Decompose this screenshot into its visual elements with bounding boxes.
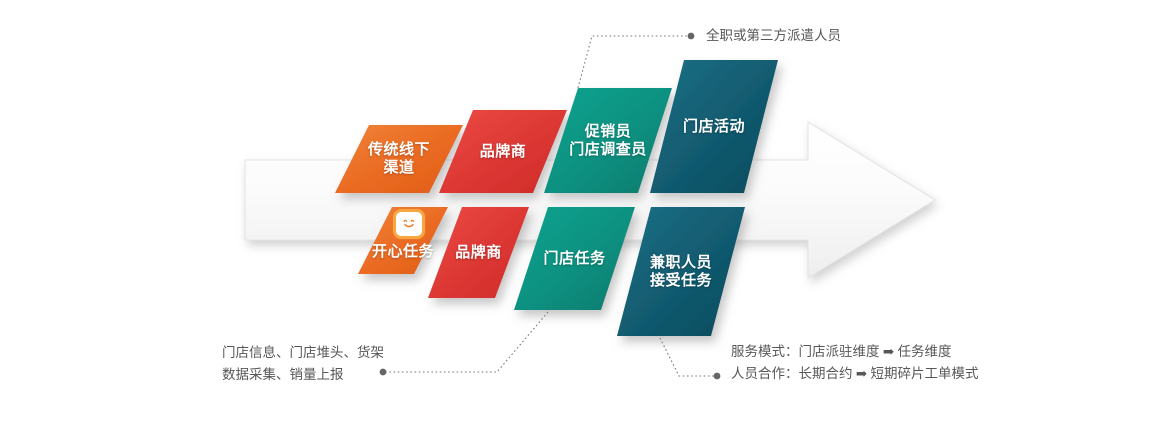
leader-line-bottom-left — [384, 312, 548, 372]
chevron-bottom-2-label: 品牌商 — [455, 244, 502, 262]
chevron-bottom-4-label-box[interactable]: 兼职人员 接受任务 — [617, 207, 745, 336]
chevron-top-1-label: 传统线下 渠道 — [368, 141, 430, 176]
annotation-top: 全职或第三方派遣人员 — [706, 25, 841, 47]
leader-dot-top — [688, 33, 695, 40]
chevron-top-4-label-box[interactable]: 门店活动 — [650, 60, 778, 193]
diagram-canvas: 传统线下 渠道 品牌商 促销员 门店调查员 门店活动 开心任务 品牌商 门店任务… — [0, 0, 1150, 430]
chevron-top-4-label: 门店活动 — [683, 118, 745, 136]
chevron-bottom-3-label: 门店任务 — [543, 250, 605, 268]
leader-line-bottom-right — [660, 338, 716, 376]
chevron-bottom-1-label: 开心任务 — [372, 243, 434, 261]
annotation-bottom-left: 门店信息、门店堆头、货架 数据采集、销量上报 — [222, 342, 384, 386]
chevron-bottom-4-label: 兼职人员 接受任务 — [650, 254, 712, 289]
chevron-top-2-label: 品牌商 — [480, 143, 527, 161]
annotation-bottom-right: 服务模式：门店派驻维度 ➡ 任务维度 人员合作：长期合约 ➡ 短期碎片工单模式 — [731, 341, 979, 385]
chevron-top-3-label: 促销员 门店调查员 — [569, 123, 647, 158]
leader-dot-bottom-right — [714, 373, 721, 380]
smiley-icon — [396, 212, 422, 236]
